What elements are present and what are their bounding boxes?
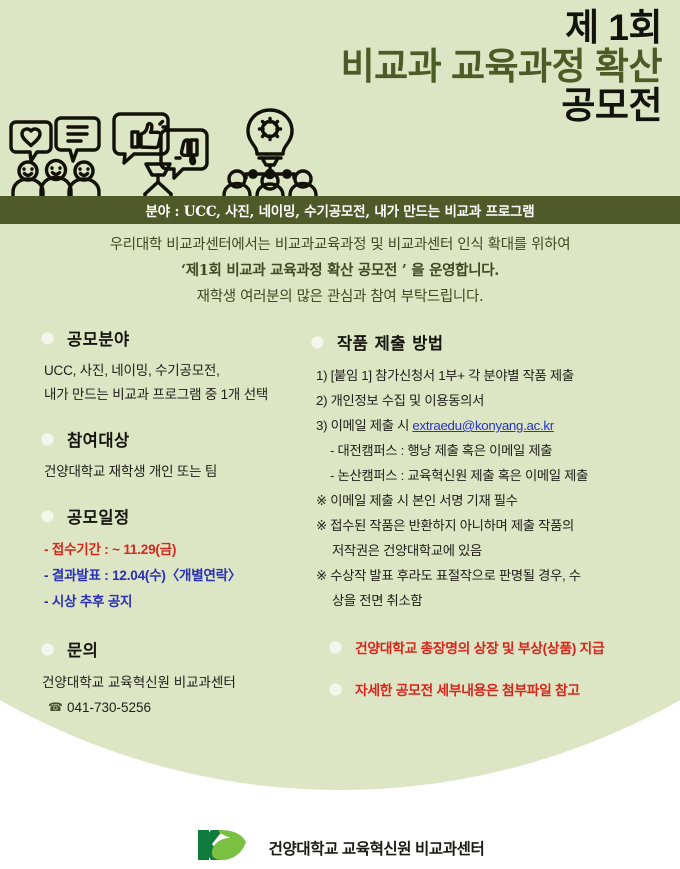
note-2-continuation: 저작권은 건양대학교에 있음 xyxy=(316,538,672,563)
target-line-1: 건양대학교 재학생 개인 또는 팀 xyxy=(44,460,332,484)
contact-organization: 건양대학교 교육혁신원 비교과센터 xyxy=(42,670,332,695)
submit-steps-list: 1) [붙임 1] 참가신청서 1부+ 각 분야별 작품 제출 2) 개인정보 … xyxy=(316,363,672,488)
footer-organization-name: 건양대학교 교육혁신원 비교과센터 xyxy=(269,837,485,859)
right-column: 작품 제출 방법 1) [붙임 1] 참가신청서 1부+ 각 분야별 작품 제출… xyxy=(312,330,672,721)
thumbs-up-down-screen-icon xyxy=(112,104,212,207)
submit-campus-daejeon: - 대전캠퍼스 : 행낭 제출 혹은 이메일 제출 xyxy=(316,438,672,463)
submission-email-link[interactable]: extraedu@konyang.ac.kr xyxy=(412,418,553,433)
award-highlights: 건양대학교 총장명의 상장 및 부상(상품) 지급 자세한 공모전 세부내용은 … xyxy=(330,637,672,699)
left-column: 공모분야 UCC, 사진, 네이밍, 수기공모전, 내가 만드는 비교과 프로그… xyxy=(42,326,332,720)
contact-phone-number: 041-730-5256 xyxy=(67,695,151,720)
submission-notes-list: ※ 이메일 제출 시 본인 서명 기재 필수 ※ 접수된 작품은 반환하지 아니… xyxy=(316,488,672,613)
award-text-prize: 건양대학교 총장명의 상장 및 부상(상품) 지급 xyxy=(355,637,604,657)
bullet-dot-icon xyxy=(42,511,53,522)
intro-line-1: 우리대학 비교과센터에서는 비교과교육과정 및 비교과센터 인식 확대를 위하여 xyxy=(0,232,680,258)
section-body-fields: UCC, 사진, 네이밍, 수기공모전, 내가 만드는 비교과 프로그램 중 1… xyxy=(44,359,332,407)
contact-phone-line: ☎ 041-730-5256 xyxy=(48,695,332,720)
bullet-dot-icon xyxy=(330,684,341,695)
bullet-dot-icon xyxy=(330,642,341,653)
bullet-dot-icon xyxy=(42,333,53,344)
poster-footer: 건양대학교 교육혁신원 비교과센터 xyxy=(0,828,680,867)
note-2: ※ 접수된 작품은 반환하지 아니하며 제출 작품의 xyxy=(316,513,672,538)
section-header-submit: 작품 제출 방법 xyxy=(312,330,672,354)
poster-canvas: 제 1회 비교과 교육과정 확산 공모전 xyxy=(0,0,680,869)
title-line-edition: 제 1회 xyxy=(341,8,662,47)
poster-header: 제 1회 비교과 교육과정 확산 공모전 xyxy=(0,0,680,196)
bullet-dot-icon xyxy=(312,337,323,348)
fields-line-2: 내가 만드는 비교과 프로그램 중 1개 선택 xyxy=(44,383,332,407)
section-body-contact: 건양대학교 교육혁신원 비교과센터 ☎ 041-730-5256 xyxy=(42,670,332,720)
section-header-schedule: 공모일정 xyxy=(42,504,332,528)
award-text-attachment: 자세한 공모전 세부내용은 첨부파일 참고 xyxy=(355,679,580,699)
section-header-target: 참여대상 xyxy=(42,427,332,451)
award-item: 건양대학교 총장명의 상장 및 부상(상품) 지급 xyxy=(330,637,672,657)
header-illustration-row xyxy=(8,104,320,207)
note-1: ※ 이메일 제출 시 본인 서명 기재 필수 xyxy=(316,488,672,513)
category-band: 분야 : UCC, 사진, 네이밍, 수기공모전, 내가 만드는 비교과 프로그… xyxy=(0,196,680,224)
lightbulb-gear-network-icon xyxy=(220,106,320,207)
section-title-schedule: 공모일정 xyxy=(67,504,130,528)
intro-line-3: 재학생 여러분의 많은 관심과 참여 부탁드립니다. xyxy=(0,284,680,310)
submit-step-2: 2) 개인정보 수집 및 이용동의서 xyxy=(316,388,672,413)
intro-paragraph: 우리대학 비교과센터에서는 비교과교육과정 및 비교과센터 인식 확대를 위하여… xyxy=(0,232,680,310)
poster-title-block: 제 1회 비교과 교육과정 확산 공모전 xyxy=(341,8,662,126)
fields-line-1: UCC, 사진, 네이밍, 수기공모전, xyxy=(44,359,332,383)
submit-step-1: 1) [붙임 1] 참가신청서 1부+ 각 분야별 작품 제출 xyxy=(316,363,672,388)
intro-line-2: ‘제1회 비교과 교육과정 확산 공모전 ’ 을 운영합니다. xyxy=(0,258,680,284)
section-header-fields: 공모분야 xyxy=(42,326,332,350)
schedule-item-award-notice: - 시상 추후 공지 xyxy=(44,589,332,615)
award-item: 자세한 공모전 세부내용은 첨부파일 참고 xyxy=(330,679,672,699)
note-3: ※ 수상작 발표 후라도 표절작으로 판명될 경우, 수 xyxy=(316,563,672,588)
section-body-schedule: - 접수기간 : ~ 11.29(금) - 결과발표 : 12.04(수)〈개별… xyxy=(44,537,332,615)
submit-step-3-prefix: 3) 이메일 제출 시 xyxy=(316,418,412,433)
section-title-fields: 공모분야 xyxy=(67,326,130,350)
telephone-icon: ☎ xyxy=(48,695,63,720)
title-line-subject: 비교과 교육과정 확산 xyxy=(341,47,662,86)
submit-step-3: 3) 이메일 제출 시 extraedu@konyang.ac.kr xyxy=(316,413,672,438)
section-header-contact: 문의 xyxy=(42,637,332,661)
bullet-dot-icon xyxy=(42,434,53,445)
ky-konyang-logo xyxy=(196,828,256,867)
submit-campus-nonsan: - 논산캠퍼스 : 교육혁신원 제출 혹은 이메일 제출 xyxy=(316,463,672,488)
schedule-item-submission-period: - 접수기간 : ~ 11.29(금) xyxy=(44,537,332,563)
people-speech-bubbles-icon xyxy=(8,110,104,207)
section-title-contact: 문의 xyxy=(67,637,98,661)
section-title-submit: 작품 제출 방법 xyxy=(337,330,444,354)
schedule-item-result-announcement: - 결과발표 : 12.04(수)〈개별연락〉 xyxy=(44,563,332,589)
section-body-target: 건양대학교 재학생 개인 또는 팀 xyxy=(44,460,332,484)
title-line-contest: 공모전 xyxy=(341,86,662,125)
category-band-text: 분야 : UCC, 사진, 네이밍, 수기공모전, 내가 만드는 비교과 프로그… xyxy=(146,200,535,220)
note-3-continuation: 상을 전면 취소함 xyxy=(316,588,672,613)
section-title-target: 참여대상 xyxy=(67,427,130,451)
bullet-dot-icon xyxy=(42,644,53,655)
